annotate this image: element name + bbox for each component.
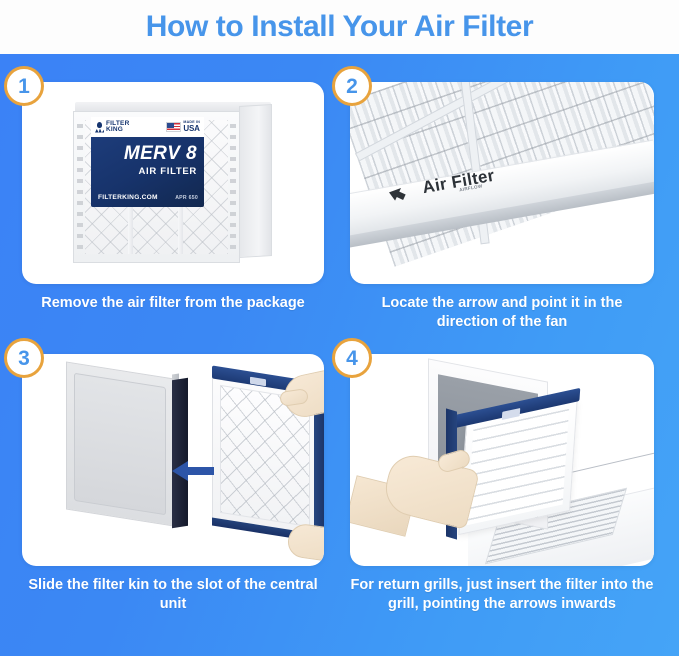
step-badge-2: 2 bbox=[332, 66, 372, 106]
steps-panel: FILTER KING MADE IN USA bbox=[0, 54, 679, 656]
apr-rating: APR 650 bbox=[175, 195, 198, 201]
filter-right-perforations bbox=[230, 124, 236, 252]
infographic-page: How to Install Your Air Filter bbox=[0, 0, 679, 656]
made-in-usa-text: MADE IN USA bbox=[183, 121, 200, 133]
step-caption-2: Locate the arrow and point it in the dir… bbox=[350, 294, 654, 333]
title-bar: How to Install Your Air Filter bbox=[0, 0, 679, 54]
step-caption-3: Slide the filter kin to the slot of the … bbox=[22, 576, 324, 615]
return-grill-illustration bbox=[350, 354, 654, 566]
step-number-4: 4 bbox=[346, 348, 358, 369]
brand-line-2: KING bbox=[106, 127, 129, 134]
usa-flag-icon bbox=[166, 122, 181, 132]
step-badge-1: 1 bbox=[4, 66, 44, 106]
air-filter-box-illustration: FILTER KING MADE IN USA bbox=[73, 102, 273, 264]
usa-label: USA bbox=[183, 125, 200, 133]
brand-website: FILTERKING.COM bbox=[98, 194, 158, 201]
pleated-filter-corner-illustration: Air Filter AIRFLOW bbox=[350, 82, 654, 284]
step-number-1: 1 bbox=[18, 76, 30, 97]
filter-left-perforations bbox=[77, 124, 83, 252]
central-unit-slot bbox=[172, 378, 188, 529]
step-2-image: Air Filter AIRFLOW bbox=[350, 82, 654, 284]
step-card-4: 4 bbox=[350, 354, 654, 566]
step-number-3: 3 bbox=[18, 348, 30, 369]
filter-box-front: FILTER KING MADE IN USA bbox=[73, 111, 240, 263]
merv-rating: MERV 8 bbox=[91, 144, 197, 163]
page-title: How to Install Your Air Filter bbox=[146, 10, 533, 44]
filter-box-side-depth bbox=[239, 104, 272, 258]
label-subtitle: AIR FILTER bbox=[91, 167, 197, 177]
central-unit-recess bbox=[74, 373, 166, 516]
step-1-image: FILTER KING MADE IN USA bbox=[22, 82, 324, 284]
step-card-2: Air Filter AIRFLOW 2 bbox=[350, 82, 654, 284]
step-card-3: 3 bbox=[22, 354, 324, 566]
filter-corner-scene: Air Filter AIRFLOW bbox=[350, 82, 654, 284]
airflow-direction-arrow-icon bbox=[386, 183, 409, 204]
steps-grid: FILTER KING MADE IN USA bbox=[0, 54, 679, 656]
step-caption-4: For return grills, just insert the filte… bbox=[350, 576, 654, 615]
step-caption-1: Remove the air filter from the package bbox=[22, 294, 324, 313]
step-number-2: 2 bbox=[346, 76, 358, 97]
filter-label-footer: FILTERKING.COM APR 650 bbox=[98, 194, 198, 201]
step-4-image bbox=[350, 354, 654, 566]
made-in-usa-badge: MADE IN USA bbox=[166, 121, 200, 133]
step-badge-4: 4 bbox=[332, 338, 372, 378]
step-card-1: FILTER KING MADE IN USA bbox=[22, 82, 324, 284]
step-badge-3: 3 bbox=[4, 338, 44, 378]
step-3-image bbox=[22, 354, 324, 566]
crown-icon bbox=[95, 122, 104, 133]
filter-king-logo: FILTER KING bbox=[95, 121, 129, 134]
slide-filter-illustration bbox=[22, 354, 324, 566]
filter-product-label: FILTER KING MADE IN USA bbox=[91, 117, 204, 207]
filter-label-header: FILTER KING MADE IN USA bbox=[91, 117, 204, 137]
filter-king-wordmark: FILTER KING bbox=[106, 121, 129, 134]
slide-direction-arrow-icon bbox=[172, 458, 214, 484]
